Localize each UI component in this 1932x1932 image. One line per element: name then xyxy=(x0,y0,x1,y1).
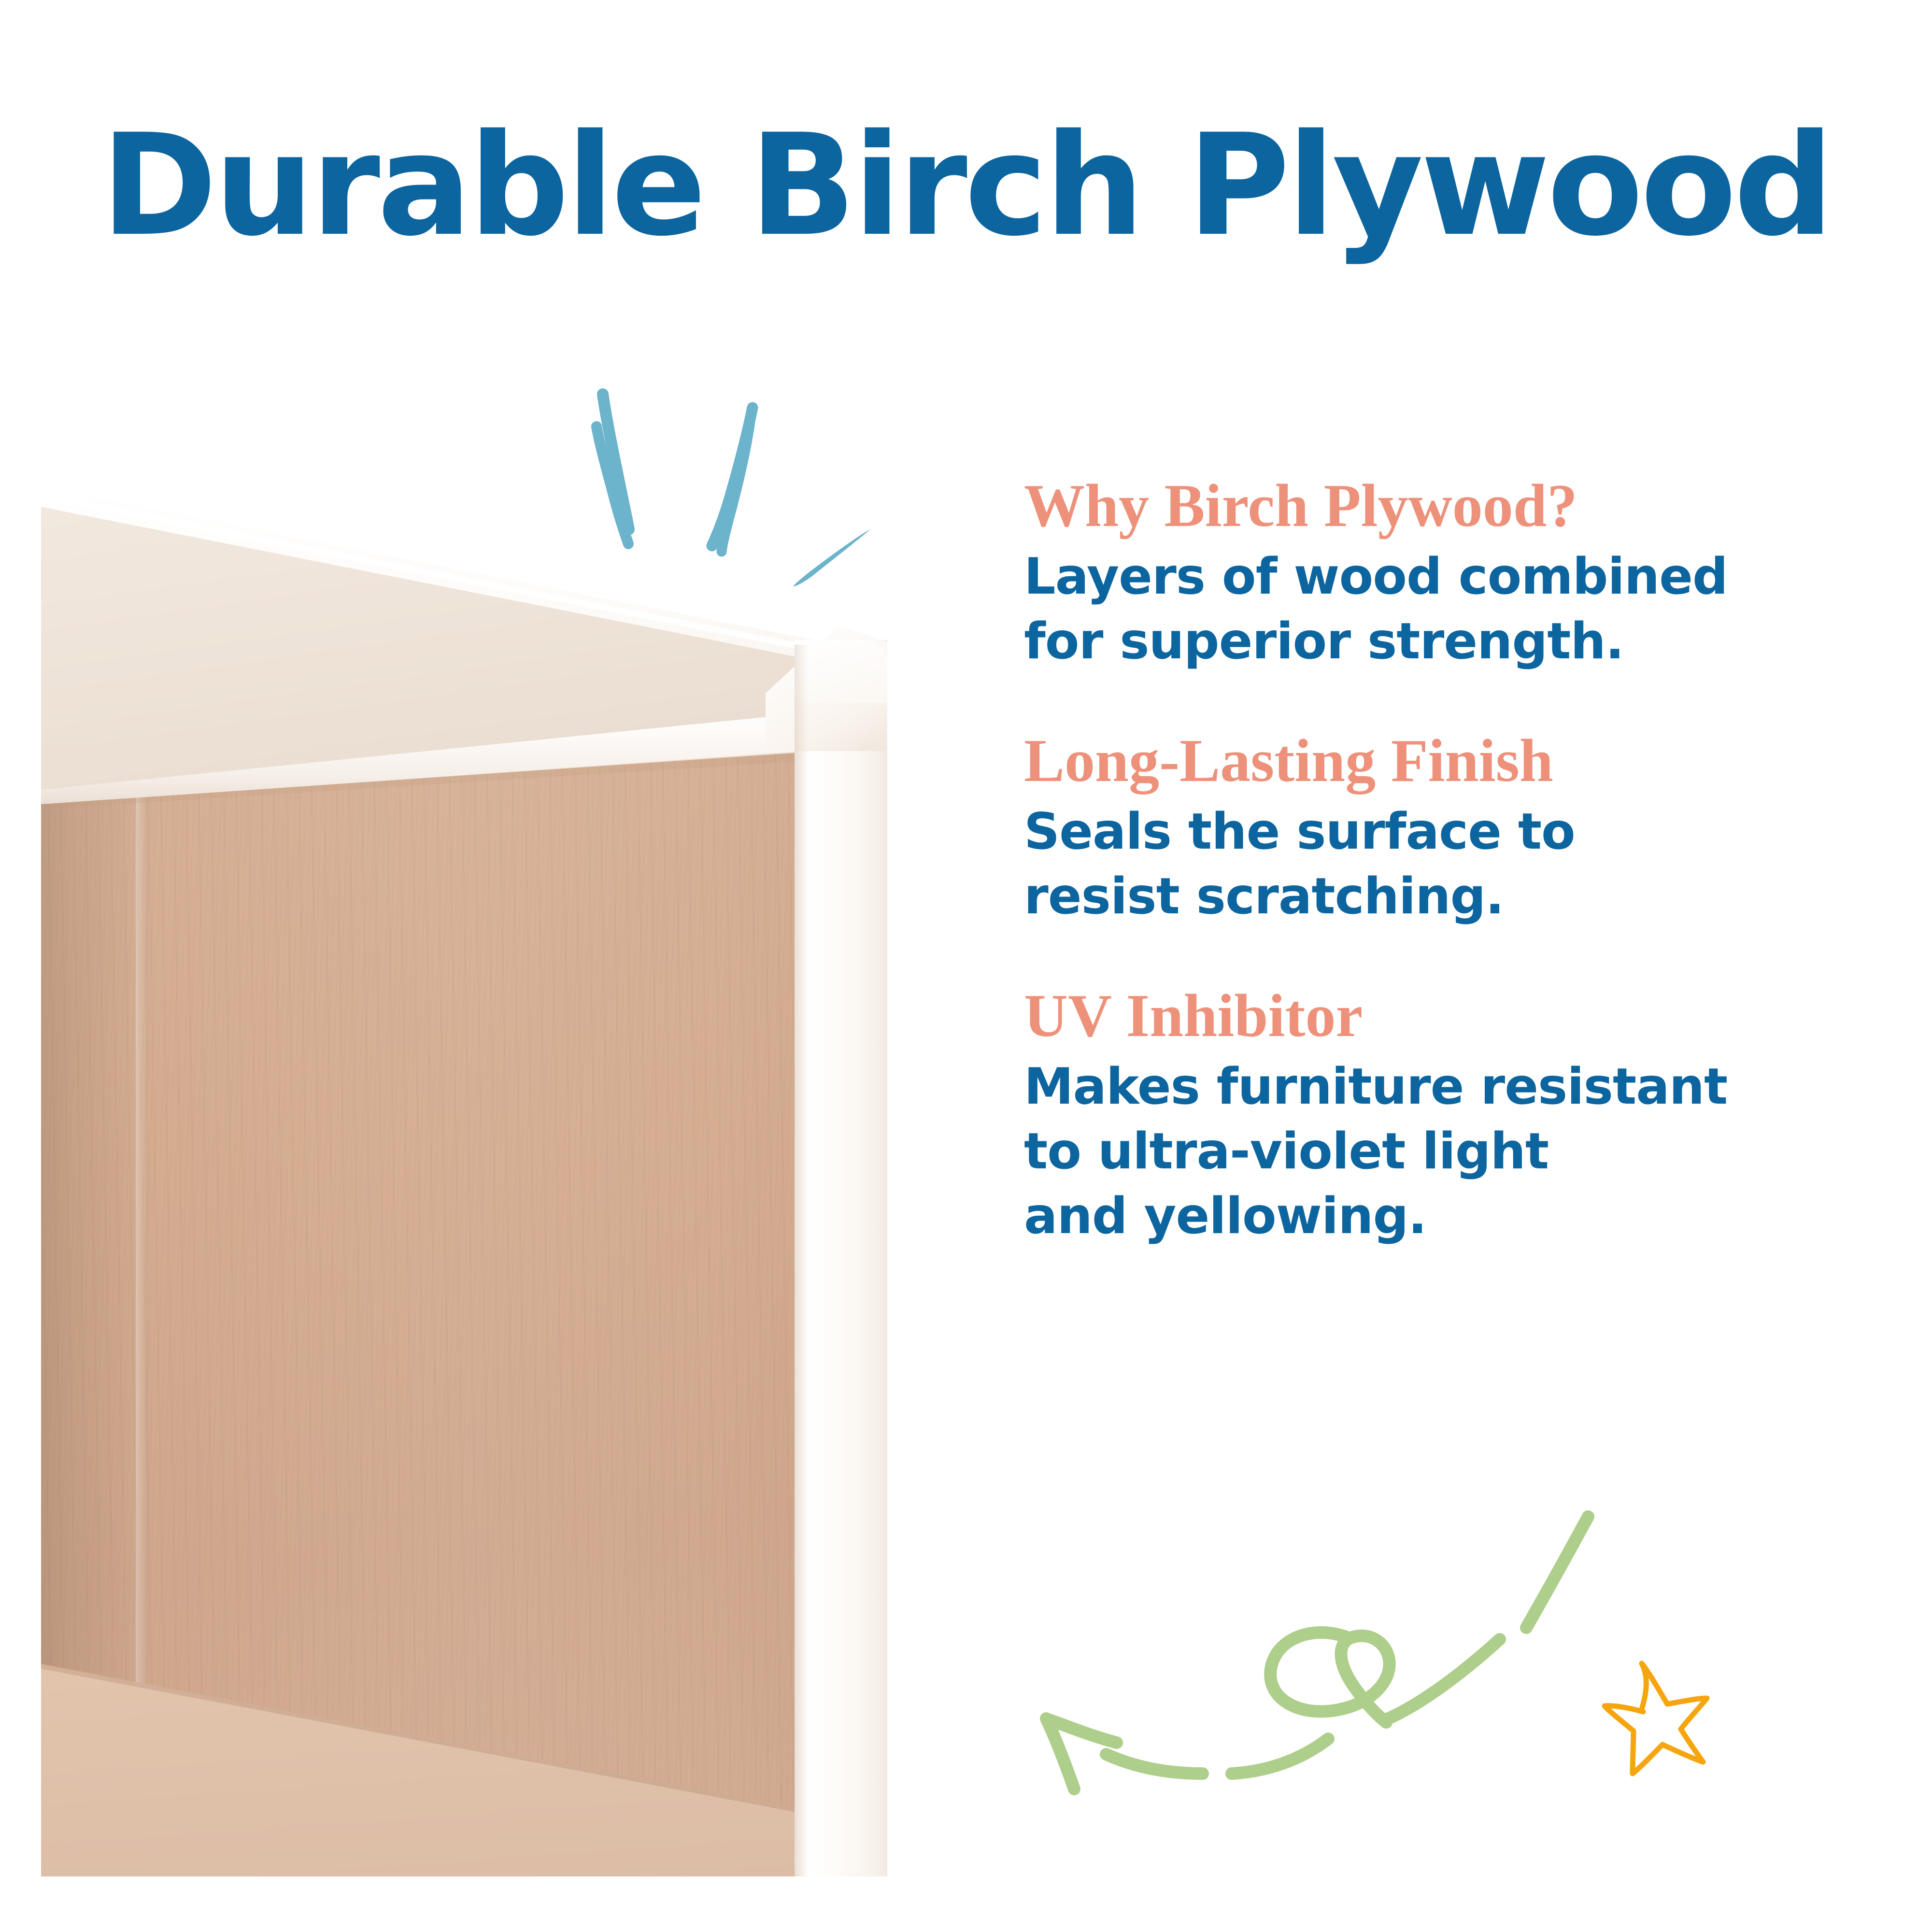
infographic-page: Durable Birch Plywood xyxy=(0,0,1932,1932)
cabinet-left-side-edge xyxy=(136,751,148,1809)
feature-heading-1: Why Birch Plywood? xyxy=(1024,473,1874,539)
feature-heading-3: UV Inhibitor xyxy=(1024,983,1874,1049)
cabinet-right-panel-top-cap xyxy=(795,640,887,703)
cabinet-right-side-panel xyxy=(795,640,887,1876)
product-photo xyxy=(41,481,887,1876)
arrow-decoration xyxy=(1029,1430,1599,1864)
feature-body-1: Layers of wood combinedfor superior stre… xyxy=(1024,545,1874,674)
feature-block-3: UV Inhibitor Makes furniture resistantto… xyxy=(1024,983,1874,1249)
feature-block-1: Why Birch Plywood? Layers of wood combin… xyxy=(1024,473,1874,674)
sparkle-icon xyxy=(570,382,937,589)
feature-body-3: Makes furniture resistantto ultra-violet… xyxy=(1024,1055,1874,1249)
star-icon xyxy=(1584,1637,1729,1782)
sparkle-decoration xyxy=(570,382,937,589)
feature-list: Why Birch Plywood? Layers of wood combin… xyxy=(1024,473,1874,1249)
page-title: Durable Birch Plywood xyxy=(0,116,1932,256)
feature-body-2: Seals the surface toresist scratching. xyxy=(1024,800,1874,929)
feature-block-2: Long-Lasting Finish Seals the surface to… xyxy=(1024,728,1874,929)
curved-arrow-icon xyxy=(1029,1430,1599,1864)
plywood-cabinet-illustration xyxy=(41,481,887,1876)
cabinet-right-panel-inner-shadow xyxy=(795,645,808,1876)
feature-heading-2: Long-Lasting Finish xyxy=(1024,728,1874,794)
star-decoration xyxy=(1584,1637,1729,1782)
